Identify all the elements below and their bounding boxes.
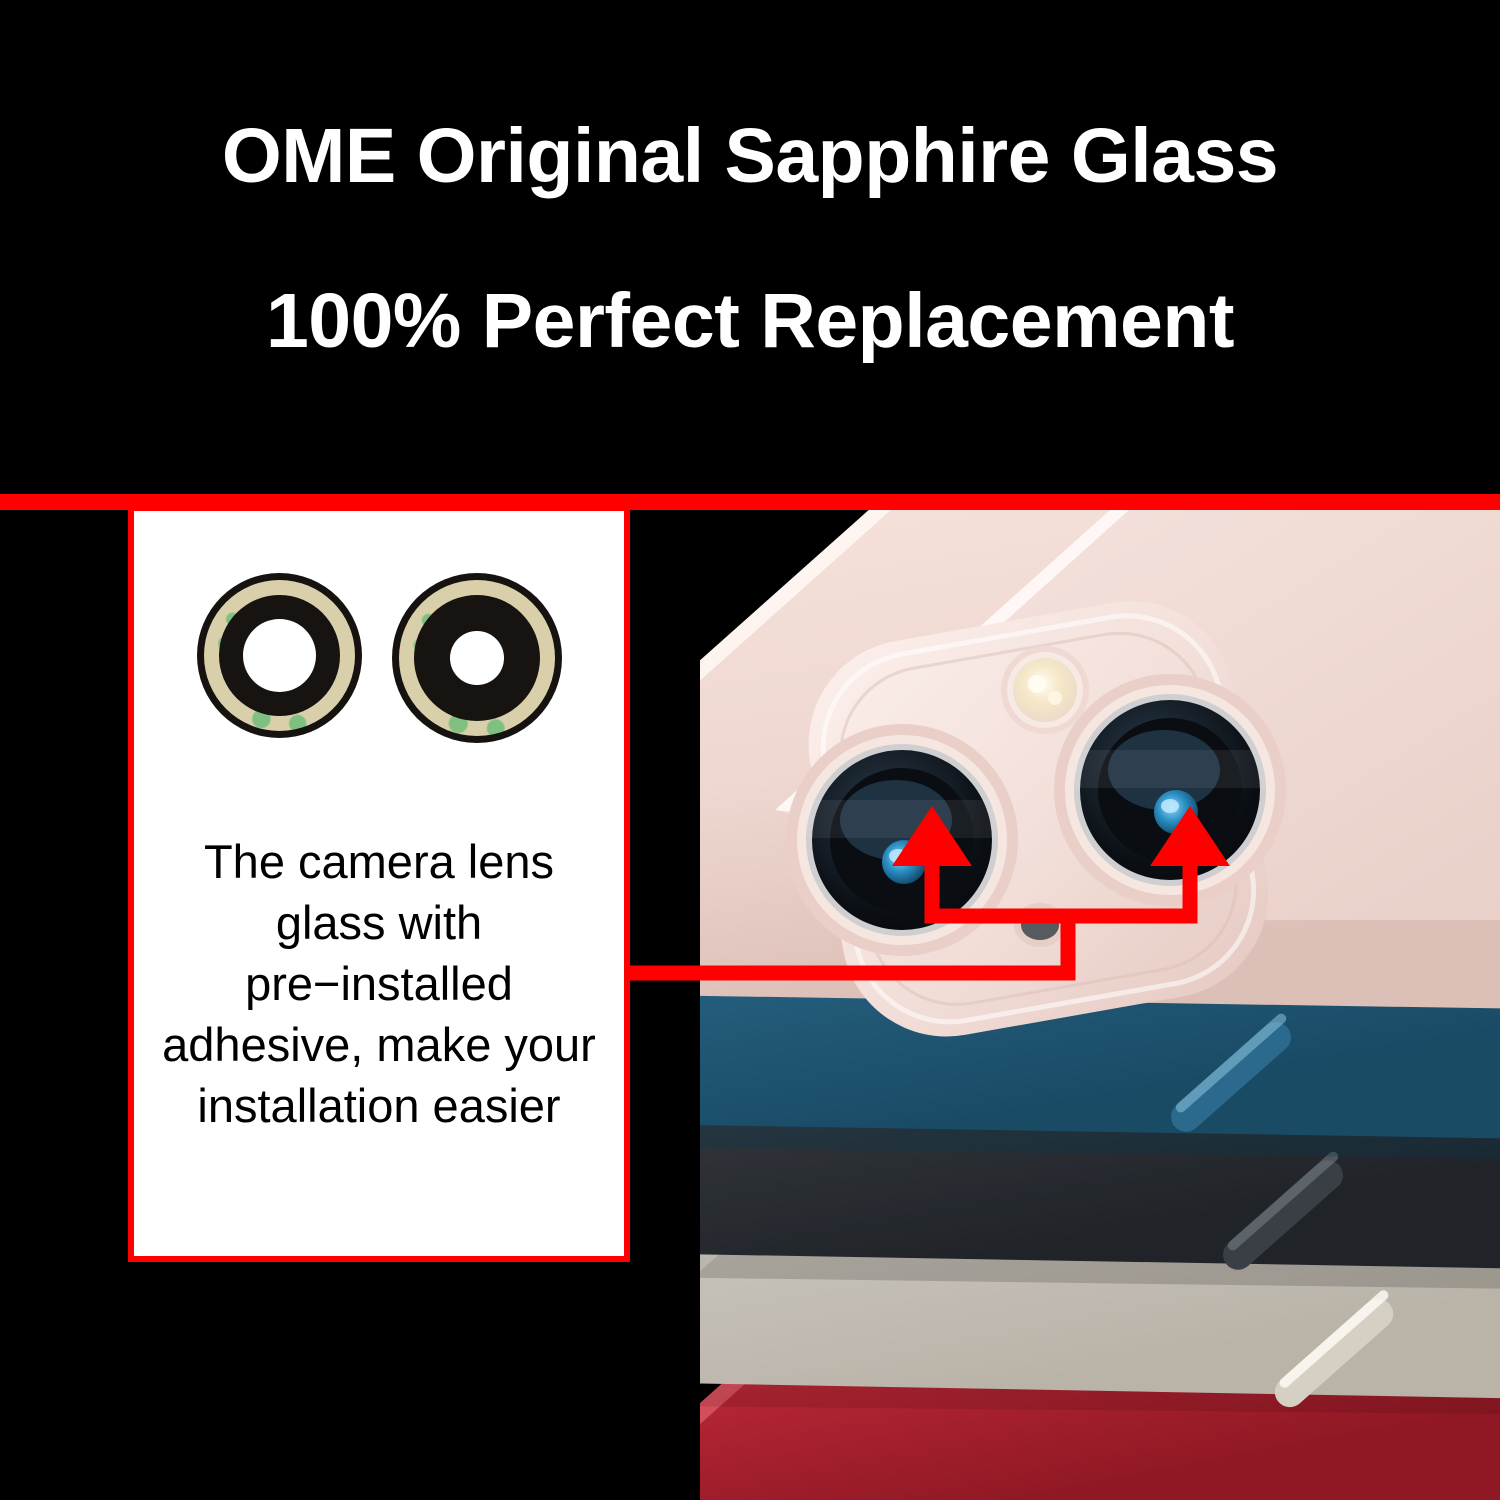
camera-lens-wide <box>786 724 1018 956</box>
lens-glass-center <box>450 631 504 685</box>
phone-illustration <box>700 500 1500 1500</box>
camera-flash <box>1001 646 1089 734</box>
lens-sample-right <box>392 573 562 743</box>
lens-glass-center <box>243 619 316 692</box>
panel-caption: The camera lens glass with pre−installed… <box>156 831 602 1136</box>
lens-sample-row <box>134 573 624 743</box>
camera-lens-ultrawide <box>1054 674 1286 906</box>
lens-sample-left <box>197 573 362 738</box>
red-divider <box>0 494 1500 510</box>
info-panel: The camera lens glass with pre−installed… <box>128 505 630 1262</box>
headline-secondary: 100% Perfect Replacement <box>0 283 1500 360</box>
headline-primary: OME Original Sapphire Glass <box>0 118 1500 195</box>
phone-artwork-svg <box>700 500 1500 1500</box>
poster-canvas: OME Original Sapphire Glass 100% Perfect… <box>0 0 1500 1500</box>
header-block: OME Original Sapphire Glass 100% Perfect… <box>0 118 1500 360</box>
camera-microphone <box>1014 903 1066 947</box>
camera-module <box>786 585 1286 1054</box>
